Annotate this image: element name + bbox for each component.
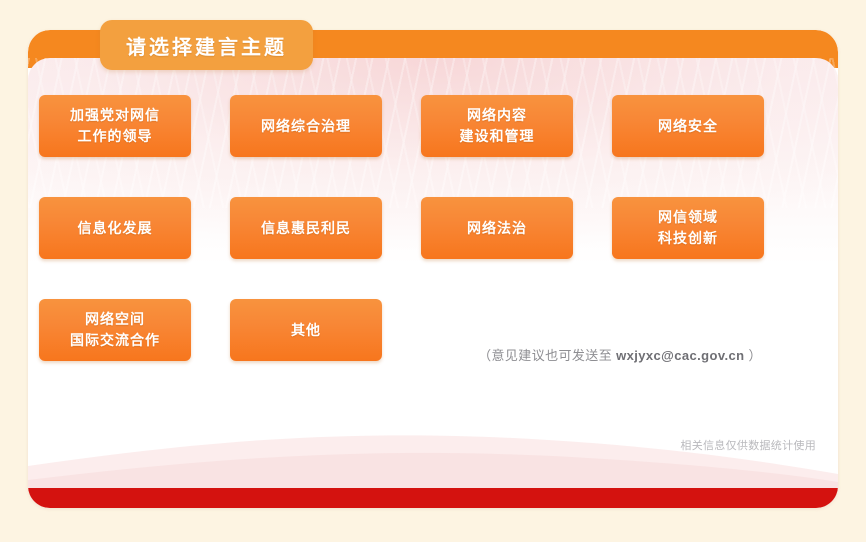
topic-button-international-cooperation[interactable]: 网络空间 国际交流合作 [39, 299, 191, 361]
topic-label-line2: 工作的领导 [78, 126, 153, 147]
topic-button-party-leadership[interactable]: 加强党对网信 工作的领导 [39, 95, 191, 157]
topic-label-line1: 网络空间 [85, 309, 145, 330]
topic-label-line1: 网络法治 [467, 218, 527, 239]
topic-button-science-innovation[interactable]: 网信领域 科技创新 [612, 197, 764, 259]
topic-label-line1: 网络综合治理 [261, 116, 351, 137]
data-usage-note: 相关信息仅供数据统计使用 [680, 437, 816, 453]
topic-button-content-construction[interactable]: 网络内容 建设和管理 [421, 95, 573, 157]
email-hint-prefix: （意见建议也可发送至 [478, 348, 616, 363]
card-red-footer-bar [28, 488, 838, 508]
title-tab: 请选择建言主题 [100, 20, 313, 70]
topic-label-line2: 科技创新 [658, 228, 718, 249]
topic-button-network-security[interactable]: 网络安全 [612, 95, 764, 157]
email-hint: （意见建议也可发送至 wxjyxc@cac.gov.cn ） [470, 345, 770, 364]
page-title: 请选择建言主题 [126, 31, 287, 60]
topic-label-line1: 信息惠民利民 [261, 218, 351, 239]
topic-label-line1: 网络内容 [467, 105, 527, 126]
topic-button-other[interactable]: 其他 [230, 299, 382, 361]
topic-label-line1: 信息化发展 [78, 218, 153, 239]
topic-button-benefit-the-people[interactable]: 信息惠民利民 [230, 197, 382, 259]
topic-button-rule-of-law[interactable]: 网络法治 [421, 197, 573, 259]
topic-label-line2: 国际交流合作 [70, 330, 160, 351]
topic-label-line1: 其他 [291, 320, 321, 341]
topic-label-line1: 网络安全 [658, 116, 718, 137]
topic-label-line2: 建设和管理 [460, 126, 535, 147]
topic-button-grid: 加强党对网信 工作的领导 网络综合治理 网络内容 建设和管理 网络安全 信息化发… [39, 95, 779, 361]
topic-button-informatization-development[interactable]: 信息化发展 [39, 197, 191, 259]
topic-label-line1: 网信领域 [658, 207, 718, 228]
email-hint-suffix: ） [744, 348, 761, 363]
topic-button-comprehensive-governance[interactable]: 网络综合治理 [230, 95, 382, 157]
title-tab-wrapper: 请选择建言主题 [100, 20, 313, 70]
topic-label-line1: 加强党对网信 [70, 105, 160, 126]
page-root: 相关信息仅供数据统计使用 请选择建言主题 加强党对网信 工作的领导 网络综合治理… [0, 0, 866, 542]
email-address: wxjyxc@cac.gov.cn [616, 348, 744, 363]
